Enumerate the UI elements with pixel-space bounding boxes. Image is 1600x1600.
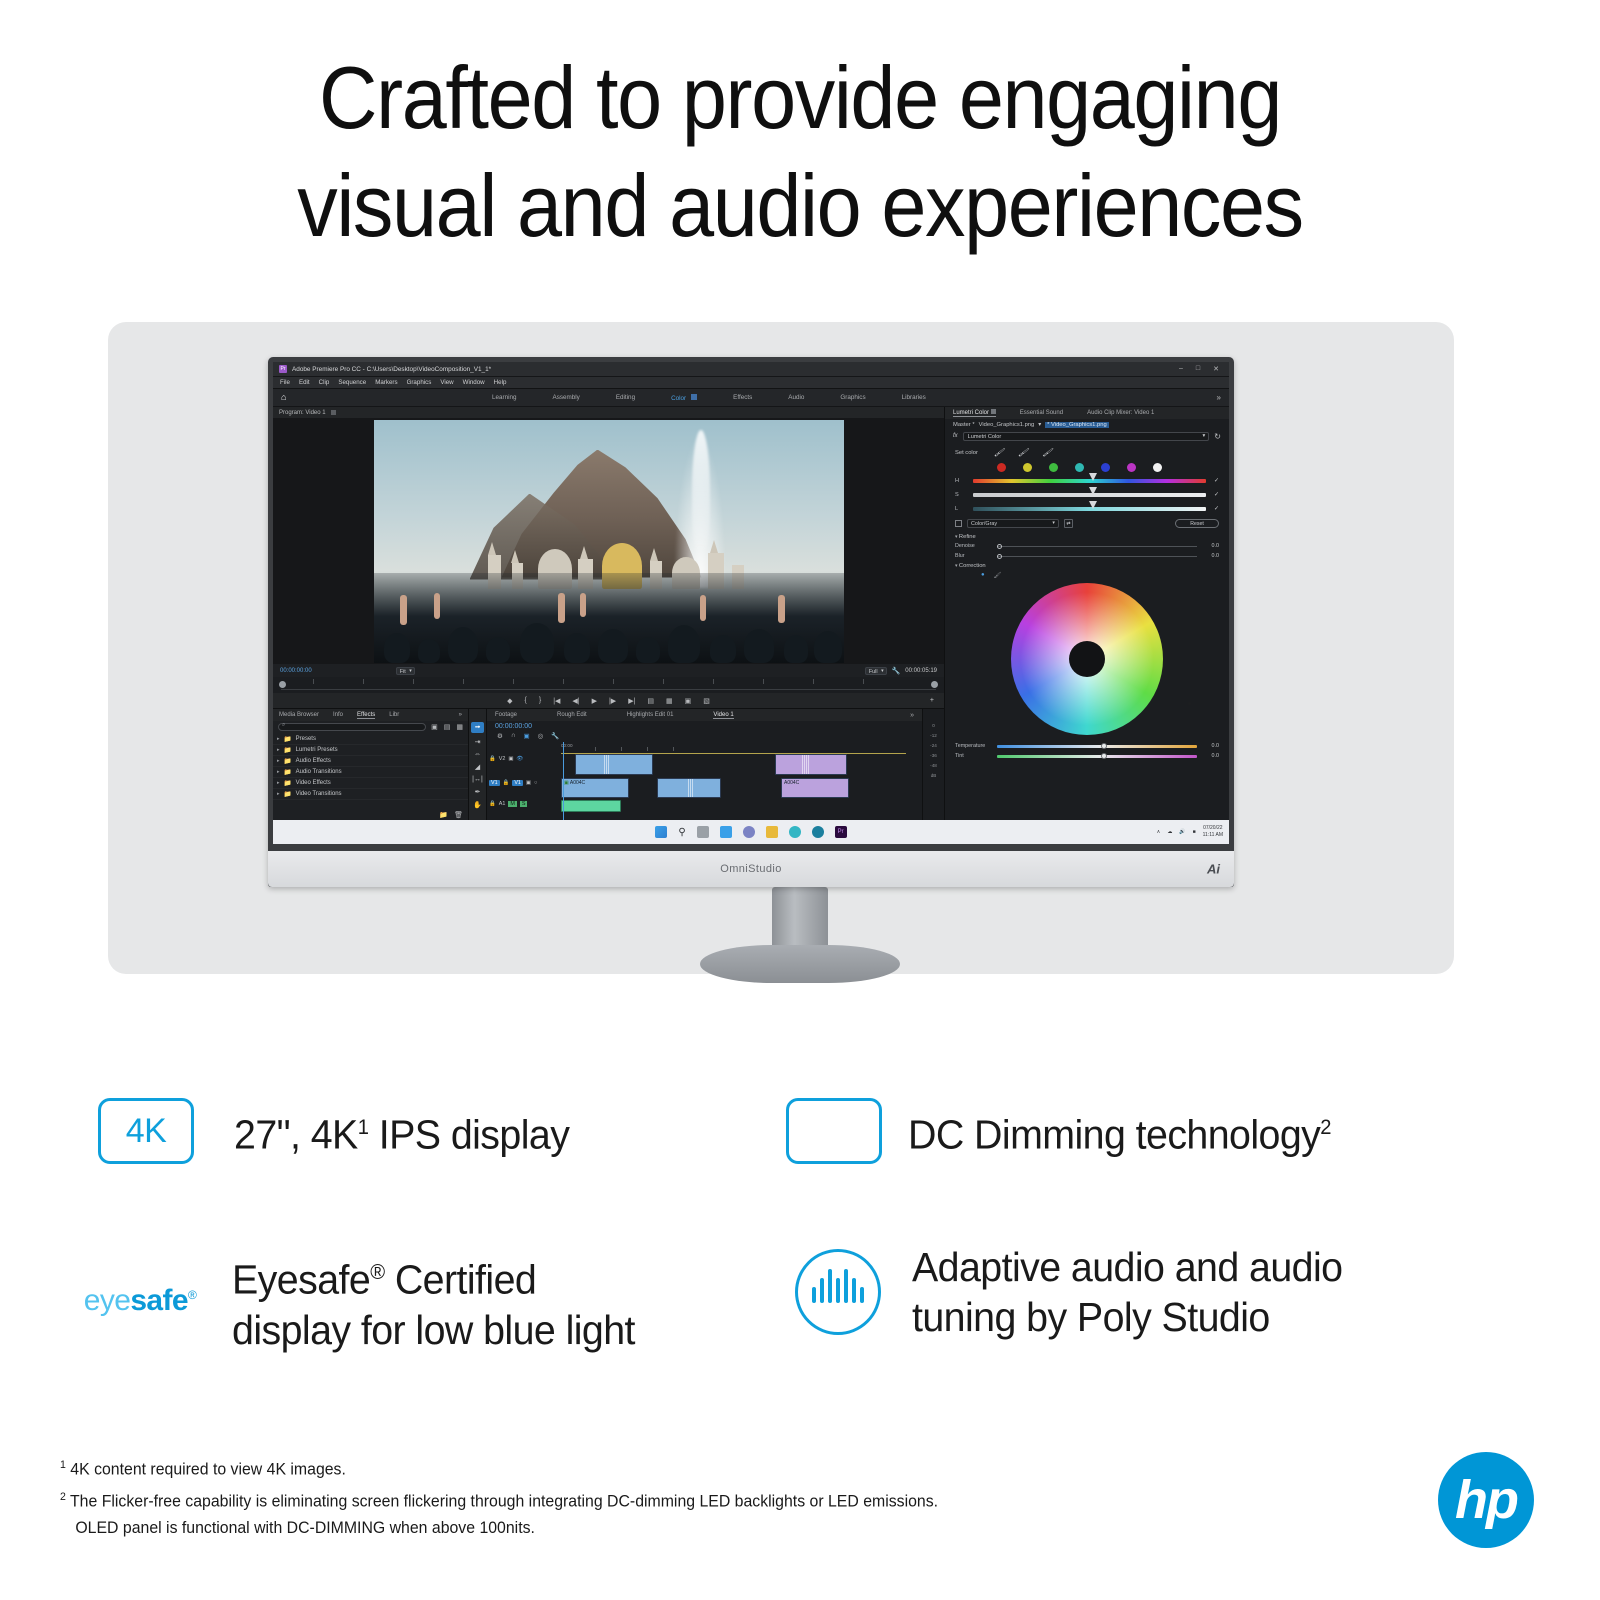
monitor-stand-neck [772, 887, 828, 953]
premiere-icon[interactable]: Pr [835, 826, 847, 838]
dc-dimming-icon [786, 1098, 882, 1164]
mail-icon[interactable] [766, 826, 778, 838]
snap-icon[interactable]: ⚙ [497, 732, 503, 740]
tint-slider[interactable] [997, 755, 1197, 758]
list-item[interactable]: ▸📁Audio Effects [273, 756, 468, 767]
task-view-icon[interactable] [697, 826, 709, 838]
timeline-clip[interactable]: A004C [781, 778, 849, 798]
slip-tool-icon[interactable]: |↔| [472, 776, 483, 783]
tab-info[interactable]: Info [333, 712, 343, 718]
taskbar-icons: ⚲ Pr [655, 826, 846, 838]
program-scrubber[interactable] [273, 677, 944, 693]
track-v2-header: 🔒 V2 ▣ 👁 [489, 756, 523, 762]
timeline-settings-icon[interactable]: 🔧 [551, 732, 559, 740]
timeline-toolbar: ⚙ ∩ ▣ ◎ 🔧 [487, 730, 922, 742]
menu-help[interactable]: Help [494, 379, 507, 386]
fx-icon: fx [953, 433, 958, 439]
luminance-knob[interactable] [1089, 501, 1097, 509]
hue-check-icon[interactable]: ✓ [1214, 477, 1219, 484]
correction-group-header[interactable]: Correction [955, 563, 1219, 569]
color-wheel-mode-icon[interactable]: ● [981, 572, 985, 579]
selection-tool-icon[interactable]: ➟ [471, 722, 484, 733]
window-controls: – □ ✕ [1179, 365, 1223, 373]
track-select-tool-icon[interactable]: ⇥ [475, 738, 481, 746]
accelerated-effects-icon[interactable]: ▣ [431, 723, 438, 731]
search-icon[interactable]: ⚲ [678, 827, 685, 838]
titlebar: Pr Adobe Premiere Pro CC - C:\Users\Desk… [273, 362, 1229, 377]
menu-edit[interactable]: Edit [299, 379, 310, 386]
linked-selection-icon[interactable]: ∩ [511, 732, 516, 740]
volume-icon[interactable]: 🔊 [1179, 829, 1185, 835]
swatch-cyan[interactable] [1075, 463, 1084, 472]
blur-label: Blur [955, 553, 991, 559]
feature-dc-dimming-text: DC Dimming technology2 [908, 1103, 1331, 1160]
hue-label: H [955, 478, 965, 484]
tint-label: Tint [955, 753, 991, 759]
panel-menu-icon[interactable] [331, 410, 336, 415]
swatch-red[interactable] [997, 463, 1006, 472]
tint-knob[interactable] [1101, 753, 1107, 759]
premiere-icon: Pr [279, 365, 287, 373]
effects-panel: Media Browser Info Effects Libr » [273, 709, 469, 820]
tab-footage[interactable]: Footage [495, 712, 517, 718]
premiere-pro-window: Pr Adobe Premiere Pro CC - C:\Users\Desk… [273, 362, 1229, 844]
program-transport-controls: ◆ { } |◀ ◀| ▶ |▶ ▶| ▤ ▦ ▣ [273, 693, 944, 708]
menu-bar: File Edit Clip Sequence Markers Graphics… [273, 377, 1229, 389]
feature-icon-wrap [786, 1098, 882, 1164]
hue-slider-row: H ✓ [955, 477, 1219, 484]
step-back-icon[interactable]: ◀| [572, 697, 579, 705]
chevron-down-icon[interactable]: ▾ [1038, 422, 1041, 428]
denoise-value[interactable]: 0.0 [1203, 543, 1219, 549]
adaptive-audio-icon [795, 1249, 881, 1335]
menu-markers[interactable]: Markers [375, 379, 397, 386]
battery-icon[interactable]: ■ [1193, 829, 1196, 835]
reset-button[interactable]: Reset [1175, 519, 1219, 528]
program-timecode-current[interactable]: 00:00:00:00 [280, 668, 312, 674]
monitor-bezel: Pr Adobe Premiere Pro CC - C:\Users\Desk… [268, 357, 1234, 887]
timeline-ruler[interactable]: 00:00 [561, 744, 906, 751]
timeline-tracks[interactable]: 00:00 [487, 742, 922, 820]
menu-sequence[interactable]: Sequence [338, 379, 366, 386]
set-color-label: Set color [955, 450, 978, 456]
comparison-view-icon[interactable]: ▧ [703, 697, 710, 705]
tab-audio-clip-mixer[interactable]: Audio Clip Mixer: Video 1 [1087, 410, 1154, 416]
tray-chevron-icon[interactable]: ∧ [1157, 829, 1161, 835]
invert-mask-icon[interactable]: ⇄ [1064, 519, 1073, 528]
store-icon[interactable] [812, 826, 824, 838]
saturation-knob[interactable] [1089, 487, 1097, 495]
timeline-tabs: Footage Rough Edit Highlights Edit 01 Vi… [487, 709, 922, 721]
lock-icon[interactable]: 🔒 [489, 801, 496, 807]
zoom-level-select[interactable]: Fit [396, 667, 415, 675]
settings-wrench-icon[interactable]: 🔧 [892, 667, 901, 675]
luminance-label: L [955, 506, 965, 512]
set-color-row: Set color 🖌 🖌 🖌 [955, 448, 1219, 457]
tab-lumetri-color[interactable]: Lumetri Color [953, 409, 996, 417]
list-item[interactable]: ▸📁Audio Transitions [273, 767, 468, 778]
program-timecode-duration: 00:00:05:19 [905, 668, 937, 674]
lumetri-effect-row: fx Lumetri Color ↻ [945, 430, 1229, 442]
folder-icon: 📁 [284, 790, 292, 798]
workspace-editing[interactable]: Editing [616, 394, 635, 401]
lumetri-master-row: Master * Video_Graphics1.png ▾ * Video_G… [945, 419, 1229, 430]
workspace-color[interactable]: Color [671, 394, 697, 402]
blur-value[interactable]: 0.0 [1203, 553, 1219, 559]
meter-tick: -36 [930, 753, 937, 758]
denoise-label: Denoise [955, 543, 991, 549]
button-editor-icon[interactable]: + [930, 697, 934, 704]
footnote-2-text: The Flicker-free capability is eliminati… [70, 1492, 938, 1510]
hsl-secondary-section: Set color 🖌 🖌 🖌 [945, 442, 1229, 820]
lumetri-color-panel: Lumetri Color Essential Sound Audio Clip… [945, 407, 1229, 820]
monitor: Pr Adobe Premiere Pro CC - C:\Users\Desk… [268, 357, 1234, 887]
window-title: Adobe Premiere Pro CC - C:\Users\Desktop… [292, 366, 491, 373]
color-wheel[interactable] [1011, 583, 1163, 735]
hp-logo-text: hp [1455, 1469, 1517, 1531]
effects-search-row: ▣ ▤ ▦ [273, 721, 468, 733]
feature-4k-text: 27", 4K1 IPS display [234, 1103, 569, 1160]
marker-icon[interactable]: ▣ [524, 732, 530, 740]
effects-panel-footer: 📁 🗑 [273, 809, 468, 820]
track-v2[interactable] [561, 754, 906, 775]
wifi-icon[interactable]: ☁ [1167, 829, 1172, 835]
menu-file[interactable]: File [280, 379, 290, 386]
tab-rough-edit[interactable]: Rough Edit [557, 712, 587, 718]
crowd-layer [374, 573, 844, 663]
scrubber-track[interactable] [281, 683, 936, 690]
timeline-tabs-overflow-icon[interactable]: » [910, 712, 914, 719]
meter-tick: -12 [930, 733, 937, 738]
hue-slider[interactable] [973, 479, 1206, 483]
folder-icon: 📁 [284, 757, 292, 765]
playback-resolution-select[interactable]: Full [865, 667, 887, 675]
master-clip-name[interactable]: Video_Graphics1.png [979, 422, 1035, 428]
workspace-libraries[interactable]: Libraries [902, 394, 926, 401]
timeline-clip[interactable] [657, 778, 721, 798]
menu-clip[interactable]: Clip [319, 379, 330, 386]
effects-tabs-overflow-icon[interactable]: » [459, 712, 462, 718]
color-wheel-container[interactable] [955, 583, 1219, 735]
menu-window[interactable]: Window [463, 379, 485, 386]
scrubber-end-handle[interactable] [931, 681, 938, 688]
saturation-label: S [955, 492, 965, 498]
folder-icon: 📁 [284, 746, 292, 754]
clock[interactable]: 07/20/22 11:11 AM [1203, 825, 1223, 839]
swatch-yellow[interactable] [1023, 463, 1032, 472]
correction-mode-icons: ● 🖌 [955, 572, 1219, 579]
export-frame-icon[interactable]: ▣ [685, 697, 692, 705]
ycbcr-icon[interactable]: ▦ [456, 723, 463, 731]
effects-filter-icons: ▣ ▤ ▦ [431, 723, 463, 731]
feature-icon-wrap [790, 1249, 886, 1335]
color-gray-row: Color/Gray ⇄ Reset [955, 519, 1219, 528]
lock-icon[interactable]: 🔒 [489, 756, 496, 762]
effects-panel-tabs: Media Browser Info Effects Libr » [273, 709, 468, 721]
selected-clip-name[interactable]: * Video_Graphics1.png [1045, 422, 1109, 428]
minimize-button[interactable]: – [1179, 365, 1183, 373]
headline-line-1: Crafted to provide engaging [64, 44, 1536, 152]
footnote-2-marker: 2 [60, 1491, 66, 1503]
audio-meter: 0 -12 -24 -36 -48 dB [922, 709, 944, 820]
hand-tool-icon[interactable]: ✋ [473, 801, 482, 809]
feature-adaptive-audio-text: Adaptive audio and audiotuning by Poly S… [912, 1242, 1342, 1342]
eye-icon[interactable]: 👁 [516, 756, 523, 762]
program-monitor-title: Program: Video 1 [279, 410, 326, 416]
color-swatch-row [955, 463, 1219, 472]
effects-folder-list[interactable]: ▸📁Presets ▸📁Lumetri Presets ▸📁Audio Effe… [273, 733, 468, 809]
list-item[interactable]: ▸📁Video Effects [273, 778, 468, 789]
effects-search-input[interactable] [278, 723, 426, 731]
clock-time: 11:11 AM [1203, 832, 1223, 838]
pen-tool-icon[interactable]: ✒ [475, 788, 481, 796]
saturation-slider-row: S ✓ [955, 491, 1219, 498]
razor-tool-icon[interactable]: ◢ [475, 763, 480, 771]
headline-line-2: visual and audio experiences [64, 152, 1536, 260]
luminance-slider-row: L ✓ [955, 505, 1219, 512]
4k-badge-label: 4K [126, 1112, 167, 1151]
tab-essential-sound[interactable]: Essential Sound [1020, 410, 1063, 416]
play-icon[interactable]: ▶ [592, 697, 597, 705]
eyedropper-mode-icon[interactable]: 🖌 [994, 572, 1002, 579]
left-column: Program: Video 1 [273, 407, 945, 820]
denoise-slider[interactable] [997, 546, 1197, 547]
folder-icon: 📁 [284, 735, 292, 743]
timeline-clip[interactable] [575, 754, 653, 775]
workspace-learning[interactable]: Learning [492, 394, 517, 401]
workspace-overflow-icon[interactable]: » [1217, 393, 1221, 402]
mark-in-icon[interactable]: { [525, 697, 527, 704]
tools-panel: ➟ ⇥ ⇔ ◢ |↔| ✒ ✋ [469, 709, 487, 820]
temperature-param: Temperature 0.0 [955, 743, 1219, 749]
workspace-graphics[interactable]: Graphics [840, 394, 865, 401]
eye-icon[interactable]: ○ [534, 780, 537, 786]
temperature-label: Temperature [955, 743, 991, 749]
home-icon[interactable]: ⌂ [281, 392, 292, 403]
tab-highlights-edit-01[interactable]: Highlights Edit 01 [627, 712, 674, 718]
meter-tick: 0 [932, 723, 935, 728]
timeline-audio-clip[interactable] [561, 800, 621, 812]
meter-tick: dB [931, 773, 937, 778]
eyesafe-logo-icon: eyesafe® [84, 1284, 196, 1318]
eyedropper-add-icon[interactable]: 🖌 [1018, 448, 1028, 457]
go-to-in-icon[interactable]: |◀ [553, 697, 560, 705]
feature-icon-wrap: 4K [98, 1098, 194, 1164]
sync-lock-icon[interactable]: ▣ [508, 756, 513, 762]
program-monitor-stage[interactable] [273, 418, 944, 664]
feature-eyesafe: eyesafe® Eyesafe® Certifieddisplay for l… [92, 1248, 652, 1355]
tab-video-1[interactable]: Video 1 [713, 712, 733, 719]
edge-icon[interactable] [789, 826, 801, 838]
footnote-1-marker: 1 [60, 1459, 66, 1471]
ai-logo-icon: Ai [1207, 862, 1220, 877]
timeline-clip[interactable]: ▣ A004C [561, 778, 629, 798]
delete-icon[interactable]: 🗑 [454, 811, 463, 819]
track-v1-header: V1 🔒 V1 ▣ ○ [489, 780, 537, 786]
workspace-effects[interactable]: Effects [733, 394, 752, 401]
extract-icon[interactable]: ▦ [666, 697, 673, 705]
add-marker-icon[interactable]: ◎ [538, 732, 544, 740]
refine-group-header[interactable]: Refine [955, 534, 1219, 540]
hue-knob[interactable] [1089, 473, 1097, 481]
tint-value[interactable]: 0.0 [1203, 753, 1219, 759]
footnote-1: 1 4K content required to view 4K images. [60, 1452, 938, 1484]
sync-lock-icon[interactable]: ▣ [526, 780, 531, 786]
folder-icon: 📁 [284, 779, 292, 787]
effect-select[interactable]: Lumetri Color [963, 432, 1210, 441]
luminance-slider[interactable] [973, 507, 1206, 511]
temperature-slider[interactable] [997, 745, 1197, 748]
lumetri-tabs: Lumetri Color Essential Sound Audio Clip… [945, 407, 1229, 419]
teams-icon[interactable] [743, 826, 755, 838]
workspace-audio[interactable]: Audio [788, 394, 804, 401]
feature-adaptive-audio: Adaptive audio and audiotuning by Poly S… [790, 1242, 1360, 1342]
feature-eyesafe-text: Eyesafe® Certifieddisplay for low blue l… [232, 1248, 635, 1355]
swatch-white[interactable] [1153, 463, 1162, 472]
list-item[interactable]: ▸📁Lumetri Presets [273, 745, 468, 756]
file-explorer-icon[interactable] [720, 826, 732, 838]
denoise-knob[interactable] [997, 544, 1002, 549]
windows-icon[interactable] [655, 826, 667, 838]
32bit-color-icon[interactable]: ▤ [444, 723, 451, 731]
hp-logo: hp [1438, 1452, 1534, 1548]
saturation-check-icon[interactable]: ✓ [1214, 491, 1219, 498]
blur-knob[interactable] [997, 554, 1002, 559]
footnote-2: 2 The Flicker-free capability is elimina… [60, 1484, 938, 1516]
master-label: Master * [953, 422, 975, 428]
tab-media-browser[interactable]: Media Browser [279, 712, 319, 718]
meter-tick: -48 [930, 763, 937, 768]
eyedropper-icon[interactable]: 🖌 [994, 448, 1004, 457]
workspace-tabs: Learning Assembly Editing Color Effects … [492, 394, 926, 402]
clock-date: 07/20/22 [1203, 825, 1222, 831]
color-gray-select[interactable]: Color/Gray [967, 519, 1059, 528]
footnote-1-text: 4K content required to view 4K images. [70, 1461, 346, 1479]
swatch-green[interactable] [1049, 463, 1058, 472]
color-gray-checkbox[interactable] [955, 520, 962, 527]
swatch-magenta[interactable] [1127, 463, 1136, 472]
feature-4k-display: 4K 27", 4K1 IPS display [98, 1098, 583, 1164]
go-to-out-icon[interactable]: ▶| [628, 697, 635, 705]
list-item[interactable]: ▸📁Video Transitions [273, 789, 468, 800]
eyedropper-group: 🖌 🖌 🖌 [994, 448, 1052, 457]
track-v1[interactable]: ▣ A004C A004C [561, 778, 906, 798]
timeline-timecode[interactable]: 00:00:00:00 [487, 721, 922, 730]
workspace-assembly[interactable]: Assembly [553, 394, 580, 401]
footnote-2-continued: OLED panel is functional with DC-DIMMING… [60, 1515, 938, 1542]
timeline-panel: Footage Rough Edit Highlights Edit 01 Vi… [487, 709, 922, 820]
denoise-param: Denoise 0.0 [955, 543, 1219, 549]
step-forward-icon[interactable]: |▶ [609, 697, 616, 705]
workspace-bar: ⌂ Learning Assembly Editing Color Effect… [273, 389, 1229, 407]
maximize-button[interactable]: □ [1196, 365, 1200, 373]
ripple-edit-tool-icon[interactable]: ⇔ [474, 751, 481, 758]
new-bin-icon[interactable]: 📁 [439, 811, 448, 819]
playhead-handle[interactable] [279, 681, 286, 688]
monitor-stand-base [700, 945, 900, 983]
menu-graphics[interactable]: Graphics [407, 379, 432, 386]
feature-dc-dimming: DC Dimming technology2 [786, 1098, 1349, 1164]
reset-effect-icon[interactable]: ↻ [1214, 432, 1221, 441]
list-item[interactable]: ▸📁Presets [273, 734, 468, 745]
marketing-page: Crafted to provide engaging visual and a… [0, 0, 1600, 1600]
windows-taskbar: ⚲ Pr ∧ ☁ 🔊 ■ [273, 820, 1229, 844]
timeline-clip[interactable] [775, 754, 847, 775]
lower-panels: Media Browser Info Effects Libr » [273, 708, 944, 820]
close-button[interactable]: ✕ [1213, 365, 1219, 373]
meter-tick: -24 [930, 743, 937, 748]
video-frame [374, 420, 844, 663]
mark-out-icon[interactable]: } [539, 697, 541, 704]
add-marker-icon[interactable]: ◆ [507, 697, 512, 705]
timeline-playhead[interactable] [563, 742, 564, 820]
menu-view[interactable]: View [440, 379, 453, 386]
workspace-active-dot [691, 394, 697, 400]
temperature-value[interactable]: 0.0 [1203, 743, 1219, 749]
track-a1-header: 🔒 A1 M S [489, 801, 527, 807]
page-headline: Crafted to provide engaging visual and a… [64, 44, 1536, 260]
program-monitor-header: Program: Video 1 [273, 407, 944, 418]
program-monitor-toolbar: 00:00:00:00 Fit Full 🔧 00:00:05:19 [273, 664, 944, 677]
color-wheel-hub [1069, 641, 1105, 677]
tab-effects[interactable]: Effects [357, 712, 375, 719]
footnotes: 1 4K content required to view 4K images.… [60, 1452, 938, 1542]
folder-icon: 📁 [284, 768, 292, 776]
tint-param: Tint 0.0 [955, 753, 1219, 759]
eyedropper-remove-icon[interactable]: 🖌 [1042, 448, 1052, 457]
system-tray: ∧ ☁ 🔊 ■ 07/20/22 11:11 AM [1157, 825, 1223, 839]
blur-param: Blur 0.0 [955, 553, 1219, 559]
4k-badge-icon: 4K [98, 1098, 194, 1164]
workspace-body: Program: Video 1 [273, 407, 1229, 820]
blur-slider[interactable] [997, 556, 1197, 557]
saturation-slider[interactable] [973, 493, 1206, 497]
lift-icon[interactable]: ▤ [647, 697, 654, 705]
track-a1[interactable] [561, 800, 906, 812]
monitor-brand-label: OmniStudio [720, 863, 781, 875]
monitor-chin: OmniStudio Ai [268, 851, 1234, 887]
tab-libraries[interactable]: Libr [389, 712, 399, 718]
color-wheel-handle[interactable] [1188, 702, 1191, 705]
feature-icon-wrap: eyesafe® [92, 1284, 188, 1318]
luminance-check-icon[interactable]: ✓ [1214, 505, 1219, 512]
swatch-blue[interactable] [1101, 463, 1110, 472]
temperature-knob[interactable] [1101, 743, 1107, 749]
lock-icon[interactable]: 🔒 [503, 780, 510, 786]
monitor-screen: Pr Adobe Premiere Pro CC - C:\Users\Desk… [273, 362, 1229, 844]
